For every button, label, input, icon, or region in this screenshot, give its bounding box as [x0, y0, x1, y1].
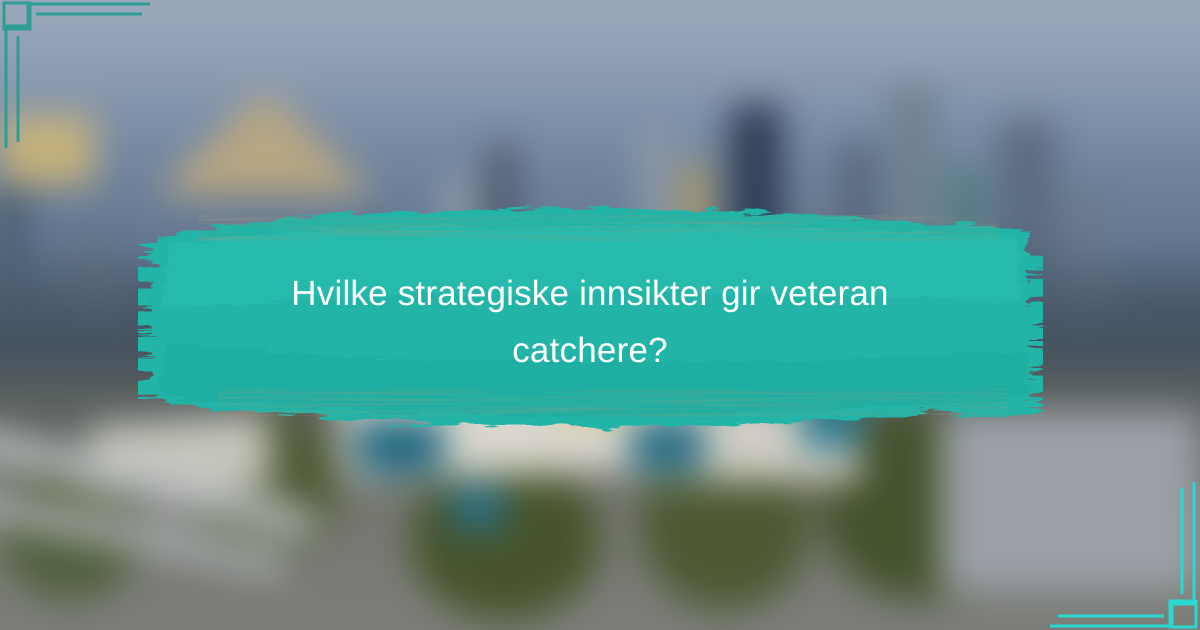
pool-blob	[450, 485, 505, 530]
page-title: Hvilke strategiske innsikter gir veteran…	[170, 265, 1010, 379]
foliage-blob	[410, 460, 600, 620]
card-root: Hvilke strategiske innsikter gir veteran…	[0, 0, 1200, 630]
bottom-right-corner-ornament	[1010, 440, 1200, 630]
headline-line-2: catchere?	[170, 322, 1010, 379]
top-left-corner-ornament	[0, 0, 190, 190]
headline-line-1: Hvilke strategiske innsikter gir veteran	[170, 265, 1010, 322]
